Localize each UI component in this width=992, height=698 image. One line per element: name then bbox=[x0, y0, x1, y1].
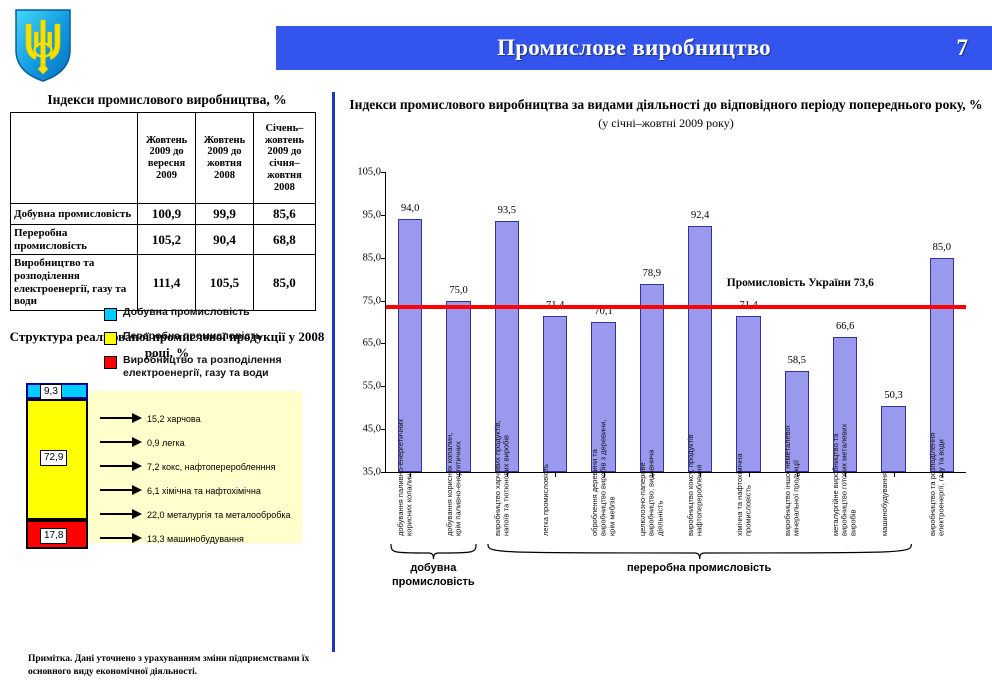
right-panel: Індекси промислового виробництва за вида… bbox=[340, 92, 992, 698]
arrow-right-icon bbox=[100, 413, 142, 426]
bar-value-label: 93,5 bbox=[498, 205, 516, 216]
y-axis-tick-mark bbox=[381, 215, 386, 216]
indices-table-title: Індекси промислового виробництва, % bbox=[8, 92, 326, 108]
y-axis-tick-label: 35,0 bbox=[363, 467, 381, 478]
stacked-bar: 9,372,917,8 bbox=[26, 383, 88, 549]
x-axis-category-label: целюлозно-паперове виробництво; видавнич… bbox=[639, 418, 665, 536]
footnote: Примітка. Дані уточнено з урахуванням зм… bbox=[28, 653, 318, 678]
legend-swatch bbox=[104, 356, 117, 369]
arrow-right-icon bbox=[100, 509, 142, 522]
x-axis-category-label: металургійне виробництво та виробництво … bbox=[832, 418, 858, 536]
legend-item: Виробництво та розподілення електроенерг… bbox=[104, 354, 326, 380]
reference-line-label: Промисловість України 73,6 bbox=[727, 277, 874, 289]
arrow-right-icon bbox=[100, 485, 142, 498]
legend-swatch bbox=[104, 308, 117, 321]
y-axis-tick-label: 85,0 bbox=[363, 252, 381, 263]
arrow-right-icon bbox=[100, 461, 142, 474]
group-bracket-icon bbox=[390, 544, 477, 560]
row-label: Добувна промисловість bbox=[11, 204, 138, 225]
chart-title: Індекси промислового виробництва за вида… bbox=[340, 96, 992, 114]
col-header-blank bbox=[11, 113, 138, 204]
col-header-janoct09-janoct08: Січень–жовтень 2009 до січня–жовтня 2008 bbox=[253, 113, 315, 204]
col-header-oct09-oct08: Жовтень 2009 до жовтня 2008 bbox=[196, 113, 254, 204]
y-axis-tick-mark bbox=[381, 386, 386, 387]
y-axis-tick-mark bbox=[381, 258, 386, 259]
y-axis-tick-label: 105,0 bbox=[357, 167, 381, 178]
breakdown-item: 13,3 машинобудування bbox=[100, 533, 244, 545]
cell-value: 105,5 bbox=[196, 255, 254, 311]
bar-value-label: 92,4 bbox=[691, 210, 709, 221]
group-brackets: добувна промисловістьпереробна промислов… bbox=[385, 544, 965, 602]
page-number: 7 bbox=[957, 26, 969, 70]
arrow-right-icon bbox=[100, 437, 142, 450]
structure-chart: 9,372,917,8 15,2 харчова0,9 легка7,2 кок… bbox=[8, 369, 326, 569]
legend-label: Добувна промисловість bbox=[123, 306, 250, 319]
ukraine-coat-of-arms bbox=[12, 6, 74, 84]
breakdown-item: 15,2 харчова bbox=[100, 413, 201, 425]
legend-item: Переробна промисловість bbox=[104, 330, 326, 345]
bar-value-label: 50,3 bbox=[884, 390, 902, 401]
group-bracket-label: переробна промисловість bbox=[487, 562, 912, 576]
chart-subtitle: (у січні–жовтні 2009 року) bbox=[340, 116, 992, 131]
bar-value-label: 94,0 bbox=[401, 203, 419, 214]
cell-value: 85,6 bbox=[253, 204, 315, 225]
legend-item: Добувна промисловість bbox=[104, 306, 326, 321]
bar-value-label: 66,6 bbox=[836, 321, 854, 332]
cell-value: 85,0 bbox=[253, 255, 315, 311]
breakdown-item: 22,0 металургія та металообробка bbox=[100, 509, 291, 521]
breakdown-text: 7,2 кокс, нафтопереробленння bbox=[147, 462, 276, 472]
legend-label: Переробна промисловість bbox=[123, 330, 262, 343]
legend-label: Виробництво та розподілення електроенерг… bbox=[123, 354, 326, 380]
breakdown-text: 6,1 хімічна та нафтохімічна bbox=[147, 486, 261, 496]
y-axis-tick-label: 75,0 bbox=[363, 295, 381, 306]
y-axis-tick-label: 95,0 bbox=[363, 209, 381, 220]
breakdown-text: 0,9 легка bbox=[147, 438, 185, 448]
breakdown-item: 7,2 кокс, нафтопереробленння bbox=[100, 461, 276, 473]
cell-value: 105,2 bbox=[138, 225, 196, 255]
table-row: Добувна промисловість 100,9 99,9 85,6 bbox=[11, 204, 316, 225]
table-row: Переробна промисловість 105,2 90,4 68,8 bbox=[11, 225, 316, 255]
x-axis-category-label: виробництво та розподілення електроенерг… bbox=[929, 418, 955, 536]
y-axis-tick-label: 45,0 bbox=[363, 424, 381, 435]
table-header-row: Жовтень 2009 до вересня 2009 Жовтень 200… bbox=[11, 113, 316, 204]
x-axis-category-label: хімічна та нафтохімічна промисловість bbox=[736, 418, 762, 536]
y-axis-tick-label: 65,0 bbox=[363, 338, 381, 349]
x-axis-category-label: виробництво харчових продуктів, напоїв т… bbox=[494, 418, 520, 536]
breakdown-text: 13,3 машинобудування bbox=[147, 534, 244, 544]
row-label: Переробна промисловість bbox=[11, 225, 138, 255]
panel-divider bbox=[332, 92, 335, 652]
stack-segment-label: 9,3 bbox=[40, 384, 62, 400]
legend-swatch bbox=[104, 332, 117, 345]
x-axis-category-label: оброблення деревини та виробництво вироб… bbox=[591, 418, 617, 536]
row-label: Виробництво та розподілення електроенерг… bbox=[11, 255, 138, 311]
cell-value: 90,4 bbox=[196, 225, 254, 255]
bar-value-label: 58,5 bbox=[788, 355, 806, 366]
group-bracket-icon bbox=[487, 544, 912, 560]
bar-value-label: 85,0 bbox=[933, 242, 951, 253]
stack-segment-label: 72,9 bbox=[40, 450, 67, 466]
y-axis-tick-label: 55,0 bbox=[363, 381, 381, 392]
bar-value-label: 75,0 bbox=[449, 285, 467, 296]
x-axis-category-labels: добування паливно-енергетичних корисних … bbox=[385, 418, 965, 540]
breakdown-item: 0,9 легка bbox=[100, 437, 185, 449]
header-band: Промислове виробництво 7 bbox=[276, 26, 992, 70]
page-title: Промислове виробництво bbox=[276, 26, 992, 70]
breakdown-text: 15,2 харчова bbox=[147, 414, 201, 424]
y-axis-tick-mark bbox=[381, 343, 386, 344]
x-axis-category-label: машинобудування bbox=[881, 418, 907, 536]
breakdown-text: 22,0 металургія та металообробка bbox=[147, 510, 291, 520]
left-panel: Індекси промислового виробництва, % Жовт… bbox=[8, 92, 326, 692]
breakdown-item: 6,1 хімічна та нафтохімічна bbox=[100, 485, 261, 497]
cell-value: 100,9 bbox=[138, 204, 196, 225]
group-bracket-label: добувна промисловість bbox=[390, 562, 477, 590]
arrow-right-icon bbox=[100, 533, 142, 546]
cell-value: 68,8 bbox=[253, 225, 315, 255]
x-axis-category-label: легка промисловість bbox=[542, 418, 568, 536]
col-header-oct09-sep09: Жовтень 2009 до вересня 2009 bbox=[138, 113, 196, 204]
structure-legend: Добувна промисловістьПереробна промислов… bbox=[104, 306, 326, 389]
indices-table: Жовтень 2009 до вересня 2009 Жовтень 200… bbox=[10, 112, 316, 311]
table-row: Виробництво та розподілення електроенерг… bbox=[11, 255, 316, 311]
cell-value: 99,9 bbox=[196, 204, 254, 225]
stack-segment-label: 17,8 bbox=[40, 528, 67, 544]
x-axis-category-label: добування паливно-енергетичних корисних … bbox=[397, 418, 423, 536]
x-axis-category-label: добування корисних копалин, крім паливно… bbox=[446, 418, 472, 536]
y-axis-tick-mark bbox=[381, 301, 386, 302]
x-axis-category-label: виробництво іншої неметалевої мінерально… bbox=[784, 418, 810, 536]
x-axis-category-label: виробництво коксу, продуктів нафтопереро… bbox=[687, 418, 713, 536]
bar-value-label: 78,9 bbox=[643, 268, 661, 279]
reference-line bbox=[386, 305, 966, 309]
y-axis-tick-mark bbox=[381, 172, 386, 173]
cell-value: 111,4 bbox=[138, 255, 196, 311]
